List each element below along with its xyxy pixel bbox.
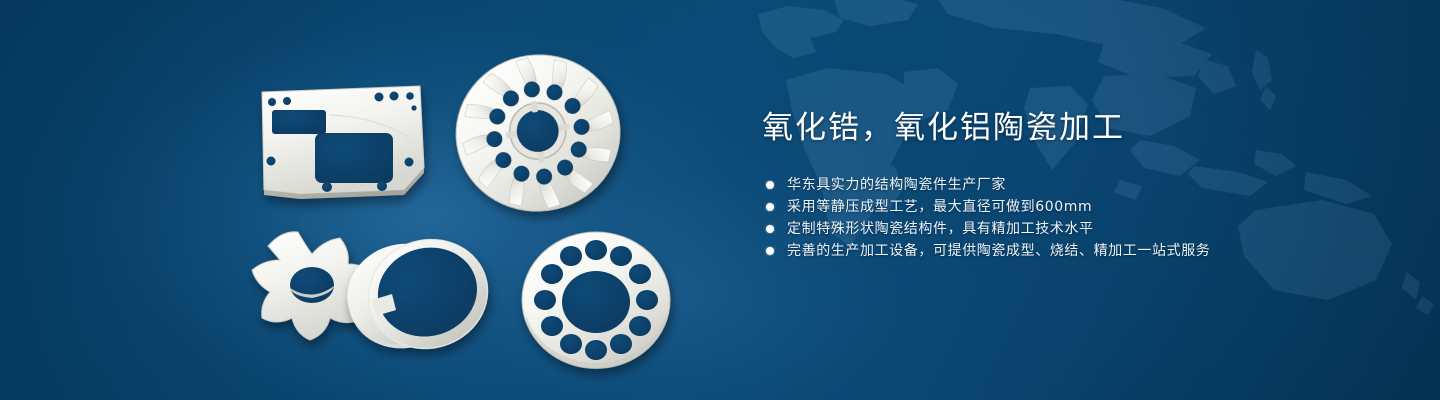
list-item: 采用等静压成型工艺，最大直径可做到600mm — [766, 196, 1382, 218]
product-ceramic-perforated-disc — [522, 232, 670, 370]
ceramic-products-collage — [0, 0, 720, 400]
product-ceramic-mounting-plate — [262, 86, 424, 199]
product-ceramic-impeller-disc — [446, 44, 630, 221]
bullet-dot-icon — [766, 203, 774, 211]
list-item-label: 华东具实力的结构陶瓷件生产厂家 — [787, 174, 1006, 196]
list-item: 华东具实力的结构陶瓷件生产厂家 — [766, 174, 1382, 196]
list-item-label: 采用等静压成型工艺，最大直径可做到600mm — [787, 196, 1092, 218]
page-title: 氧化锆，氧化铝陶瓷加工 — [762, 108, 1382, 148]
bullet-dot-icon — [766, 247, 774, 255]
list-item: 完善的生产加工设备，可提供陶瓷成型、烧结、精加工一站式服务 — [766, 240, 1382, 262]
bullet-dot-icon — [766, 225, 774, 233]
ceramic-processing-banner: 氧化锆，氧化铝陶瓷加工 华东具实力的结构陶瓷件生产厂家 采用等静压成型工艺，最大… — [0, 0, 1440, 400]
list-item-label: 定制特殊形状陶瓷结构件，具有精加工技术水平 — [787, 218, 1094, 240]
product-ceramic-ring — [337, 226, 501, 363]
banner-copy-block: 氧化锆，氧化铝陶瓷加工 华东具实力的结构陶瓷件生产厂家 采用等静压成型工艺，最大… — [762, 108, 1382, 262]
feature-bullet-list: 华东具实力的结构陶瓷件生产厂家 采用等静压成型工艺，最大直径可做到600mm 定… — [766, 174, 1382, 262]
list-item: 定制特殊形状陶瓷结构件，具有精加工技术水平 — [766, 218, 1382, 240]
bullet-dot-icon — [766, 181, 774, 189]
list-item-label: 完善的生产加工设备，可提供陶瓷成型、烧结、精加工一站式服务 — [787, 240, 1210, 262]
